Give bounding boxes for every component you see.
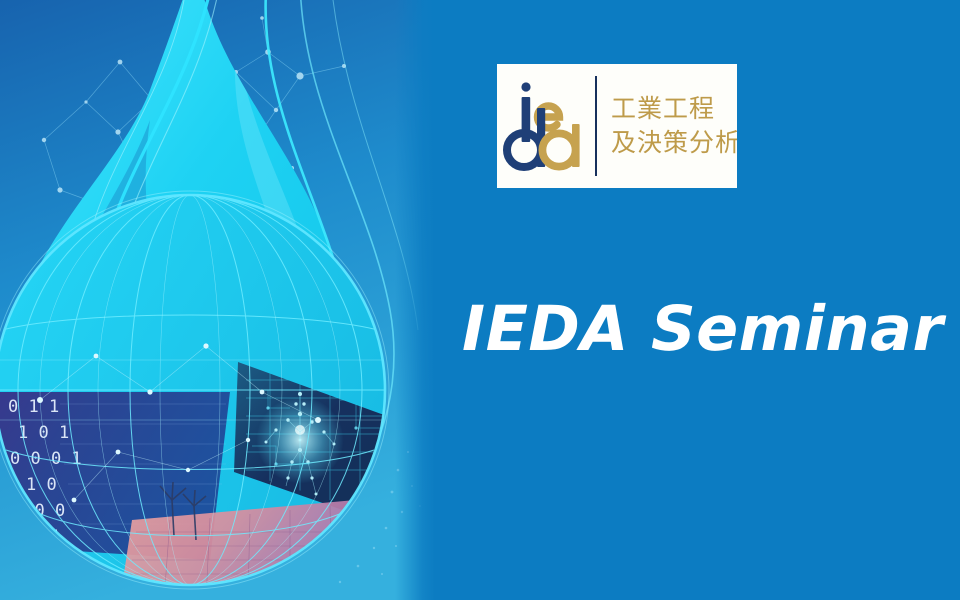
logo-chinese-line-2: 及決策分析 <box>611 126 737 161</box>
svg-text:1 0: 1 0 <box>26 475 57 495</box>
seminar-title-slide: 0 1 1 1 0 1 0 0 0 1 1 0 0 0 0 0 1 <box>0 0 960 600</box>
svg-text:0 1 1: 0 1 1 <box>8 397 59 417</box>
ieda-wordmark-icon <box>497 64 593 188</box>
slide-title: IEDA Seminar <box>462 292 944 365</box>
ieda-logo-card: 工業工程 及決策分析 <box>497 64 737 188</box>
logo-chinese-line-1: 工業工程 <box>611 92 737 127</box>
artwork-graphic: 0 1 1 1 0 1 0 0 0 1 1 0 0 0 0 0 1 <box>0 0 435 600</box>
technology-artwork-image: 0 1 1 1 0 1 0 0 0 1 1 0 0 0 0 0 1 <box>0 0 435 600</box>
logo-chinese-text: 工業工程 及決策分析 <box>597 92 737 161</box>
